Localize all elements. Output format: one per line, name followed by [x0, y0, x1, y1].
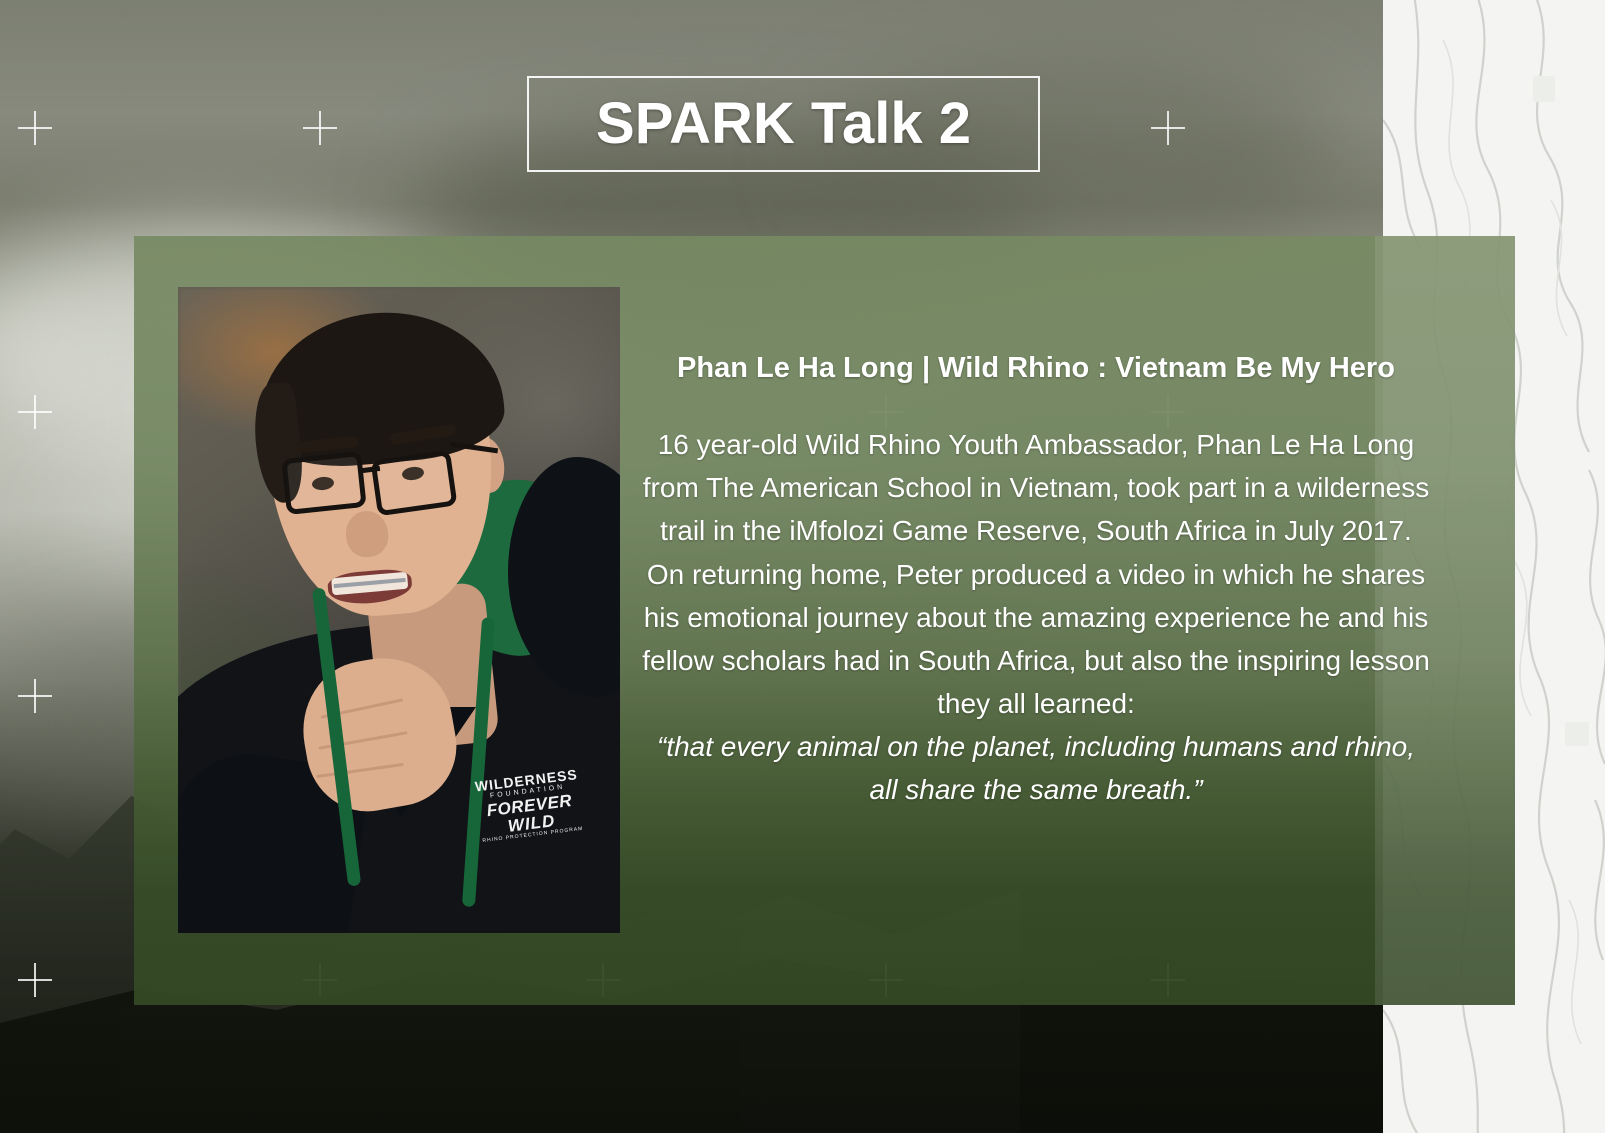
slide-canvas: SPARK Talk 2 — [0, 0, 1605, 1133]
portrait-eyeglasses-lens — [281, 451, 366, 515]
hoodie-logo: WILDERNESS FOUNDATION FOREVER WILD RHINO… — [463, 766, 599, 873]
speaker-portrait-photo: WILDERNESS FOUNDATION FOREVER WILD RHINO… — [178, 287, 620, 933]
speaker-quote: “that every animal on the planet, includ… — [640, 725, 1432, 811]
speaker-bio-paragraph: 16 year-old Wild Rhino Youth Ambassador,… — [640, 423, 1432, 725]
slide-title-box: SPARK Talk 2 — [527, 76, 1040, 172]
speaker-text-column: Phan Le Ha Long | Wild Rhino : Vietnam B… — [640, 348, 1432, 811]
portrait-eyeglasses-lens — [370, 450, 457, 517]
page-title: SPARK Talk 2 — [596, 95, 971, 153]
speaker-heading: Phan Le Ha Long | Wild Rhino : Vietnam B… — [640, 348, 1432, 389]
